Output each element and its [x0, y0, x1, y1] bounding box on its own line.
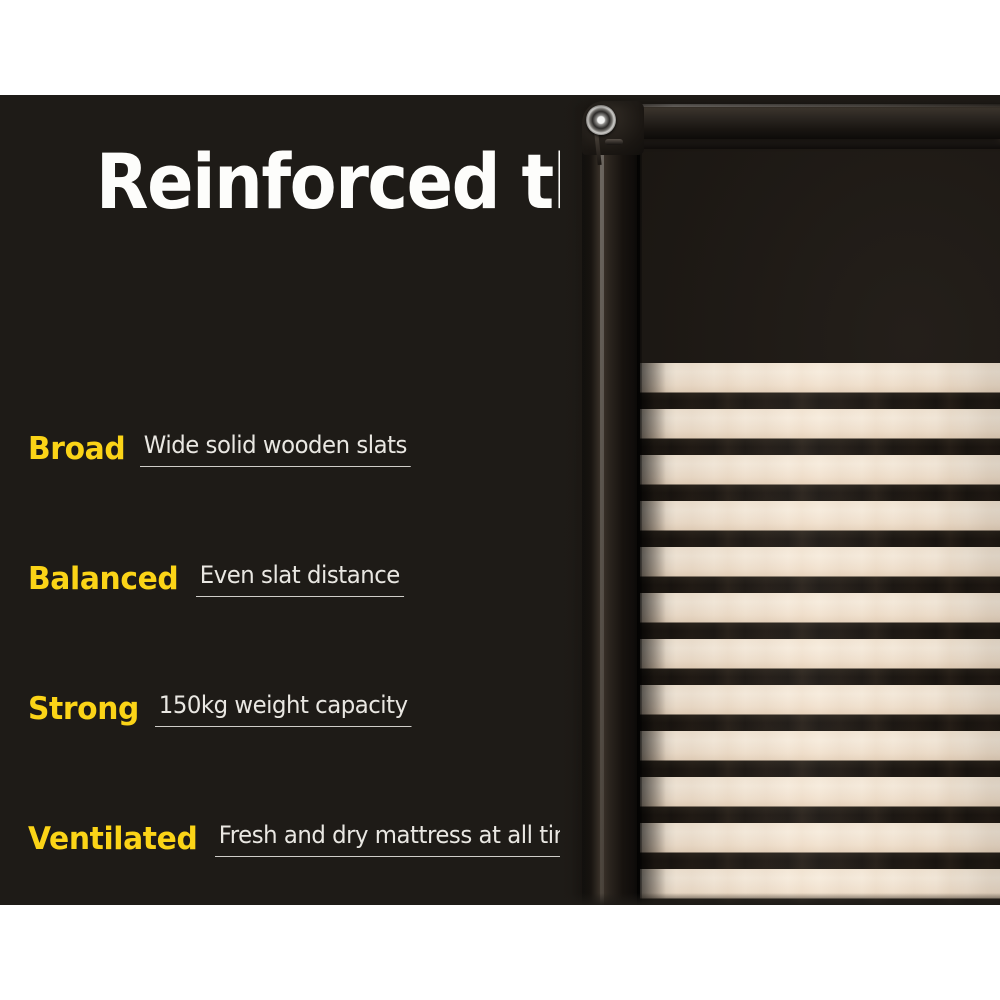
list-item: Balanced Even slat distance: [28, 467, 558, 597]
feature-term-strong: Strong: [28, 692, 139, 727]
list-item: Ventilated Fresh and dry mattress at all…: [28, 727, 558, 857]
vertical-frame-post: [582, 121, 640, 905]
feature-desc-broad: Wide solid wooden slats: [140, 431, 411, 467]
post-edge-shadow: [637, 121, 642, 905]
list-item: Strong 150kg weight capacity: [28, 597, 558, 727]
corner-bolt-icon: [586, 105, 616, 135]
list-item: Broad Wide solid wooden slats: [28, 337, 558, 467]
feature-term-ventilated: Ventilated: [28, 822, 197, 857]
slat-shadow: [640, 363, 666, 905]
feature-list: Broad Wide solid wooden slats Balanced E…: [28, 337, 558, 857]
product-photo: [560, 95, 1000, 905]
rail-highlight: [602, 104, 1000, 107]
top-frame-rail: [602, 103, 1000, 139]
post-highlight: [600, 121, 604, 905]
feature-term-broad: Broad: [28, 432, 125, 467]
dark-feature-panel: Reinforced thick slats Broad Wide solid …: [0, 95, 1000, 905]
product-feature-graphic: Reinforced thick slats Broad Wide solid …: [0, 0, 1000, 1000]
wooden-slat-base: [640, 363, 1000, 905]
bracket-fastener: [605, 139, 623, 145]
wood-grain-overlay: [640, 363, 1000, 905]
frame-inner-lip: [622, 139, 1000, 149]
feature-desc-balanced: Even slat distance: [196, 561, 404, 597]
feature-desc-strong: 150kg weight capacity: [155, 691, 411, 727]
feature-desc-ventilated: Fresh and dry mattress at all times: [215, 821, 604, 857]
feature-term-balanced: Balanced: [28, 562, 178, 597]
